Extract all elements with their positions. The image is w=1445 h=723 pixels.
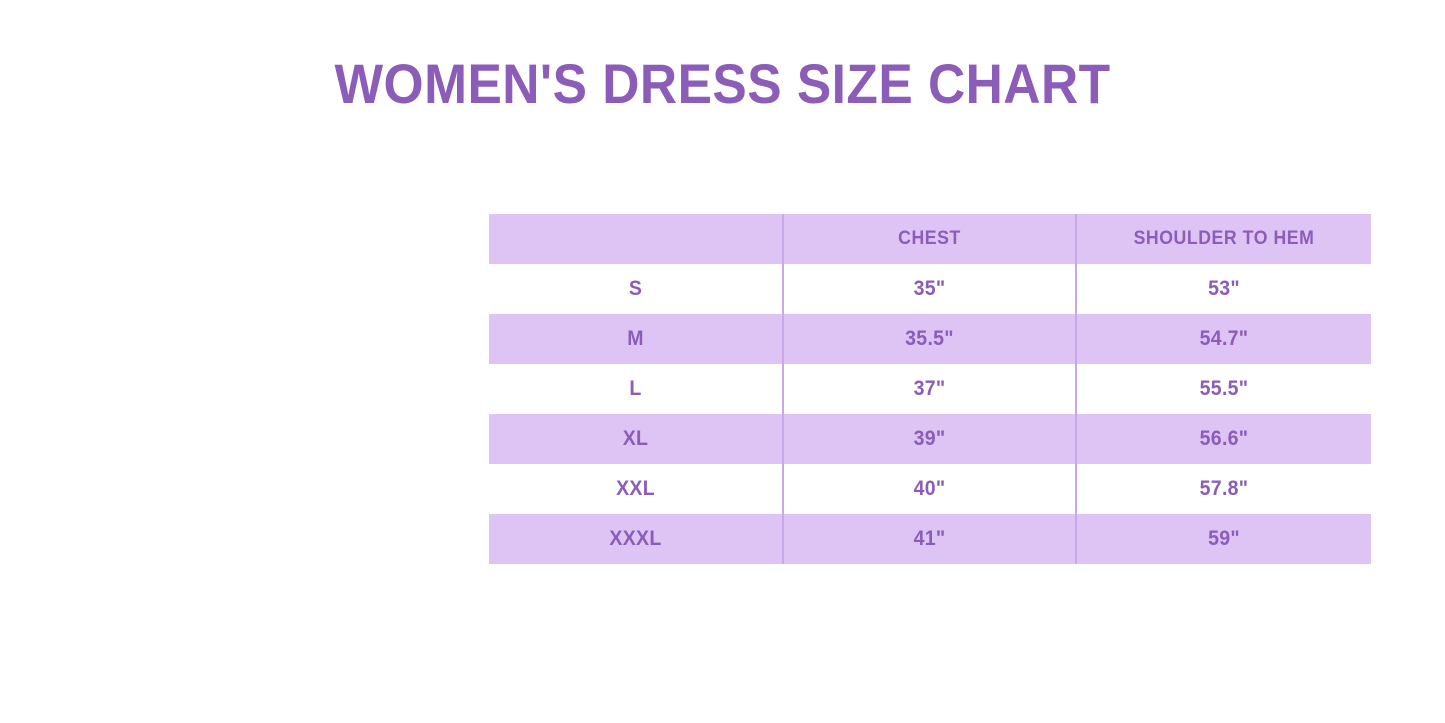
cell-size-label: S [499,277,771,301]
cell-size-label: M [499,327,771,351]
page-title: WOMEN'S DRESS SIZE CHART [58,56,1387,112]
cell-chest: 37" [783,364,1076,414]
cell-shoulder-to-hem-value: 54.7" [1087,327,1360,351]
size-chart-page: WOMEN'S DRESS SIZE CHART CHEST SHOULDER … [0,0,1445,723]
cell-shoulder-to-hem-value: 59" [1087,527,1360,551]
table-row: XL 39" 56.6" [489,414,1371,464]
cell-chest: 35" [783,264,1076,314]
cell-chest-value: 35.5" [794,327,1065,351]
cell-shoulder-to-hem: 59" [1076,514,1371,564]
column-header-shoulder-to-hem-label: SHOULDER TO HEM [1087,228,1360,250]
cell-shoulder-to-hem-value: 55.5" [1087,377,1360,401]
cell-size-label: XL [499,427,771,451]
cell-chest: 41" [783,514,1076,564]
cell-size: S [489,264,783,314]
cell-size: XL [489,414,783,464]
cell-size-label: XXXL [499,527,771,551]
cell-shoulder-to-hem: 56.6" [1076,414,1371,464]
cell-size: L [489,364,783,414]
cell-chest: 39" [783,414,1076,464]
table-row: S 35" 53" [489,264,1371,314]
size-chart-table-container: CHEST SHOULDER TO HEM S 35" 53" M 35.5" … [489,214,1371,566]
cell-shoulder-to-hem: 55.5" [1076,364,1371,414]
table-header: CHEST SHOULDER TO HEM [489,214,1371,264]
cell-shoulder-to-hem-value: 56.6" [1087,427,1360,451]
cell-shoulder-to-hem: 53" [1076,264,1371,314]
cell-chest-value: 35" [794,277,1065,301]
table-body: S 35" 53" M 35.5" 54.7" L 37" 55.5" XL 3… [489,264,1371,564]
cell-size: M [489,314,783,364]
cell-size: XXL [489,464,783,514]
table-row: XXL 40" 57.8" [489,464,1371,514]
cell-chest: 35.5" [783,314,1076,364]
cell-chest-value: 41" [794,527,1065,551]
cell-shoulder-to-hem-value: 53" [1087,277,1360,301]
table-row: XXXL 41" 59" [489,514,1371,564]
size-chart-table: CHEST SHOULDER TO HEM S 35" 53" M 35.5" … [489,214,1371,564]
cell-size-label: L [499,377,771,401]
table-header-row: CHEST SHOULDER TO HEM [489,214,1371,264]
cell-chest-value: 40" [794,477,1065,501]
cell-chest-value: 39" [794,427,1065,451]
column-header-chest-label: CHEST [794,228,1065,250]
cell-shoulder-to-hem-value: 57.8" [1087,477,1360,501]
column-header-size [489,214,783,264]
cell-size-label: XXL [499,477,771,501]
column-header-shoulder-to-hem: SHOULDER TO HEM [1076,214,1371,264]
cell-chest-value: 37" [794,377,1065,401]
cell-shoulder-to-hem: 54.7" [1076,314,1371,364]
column-header-chest: CHEST [783,214,1076,264]
cell-size: XXXL [489,514,783,564]
table-row: L 37" 55.5" [489,364,1371,414]
cell-shoulder-to-hem: 57.8" [1076,464,1371,514]
cell-chest: 40" [783,464,1076,514]
table-row: M 35.5" 54.7" [489,314,1371,364]
